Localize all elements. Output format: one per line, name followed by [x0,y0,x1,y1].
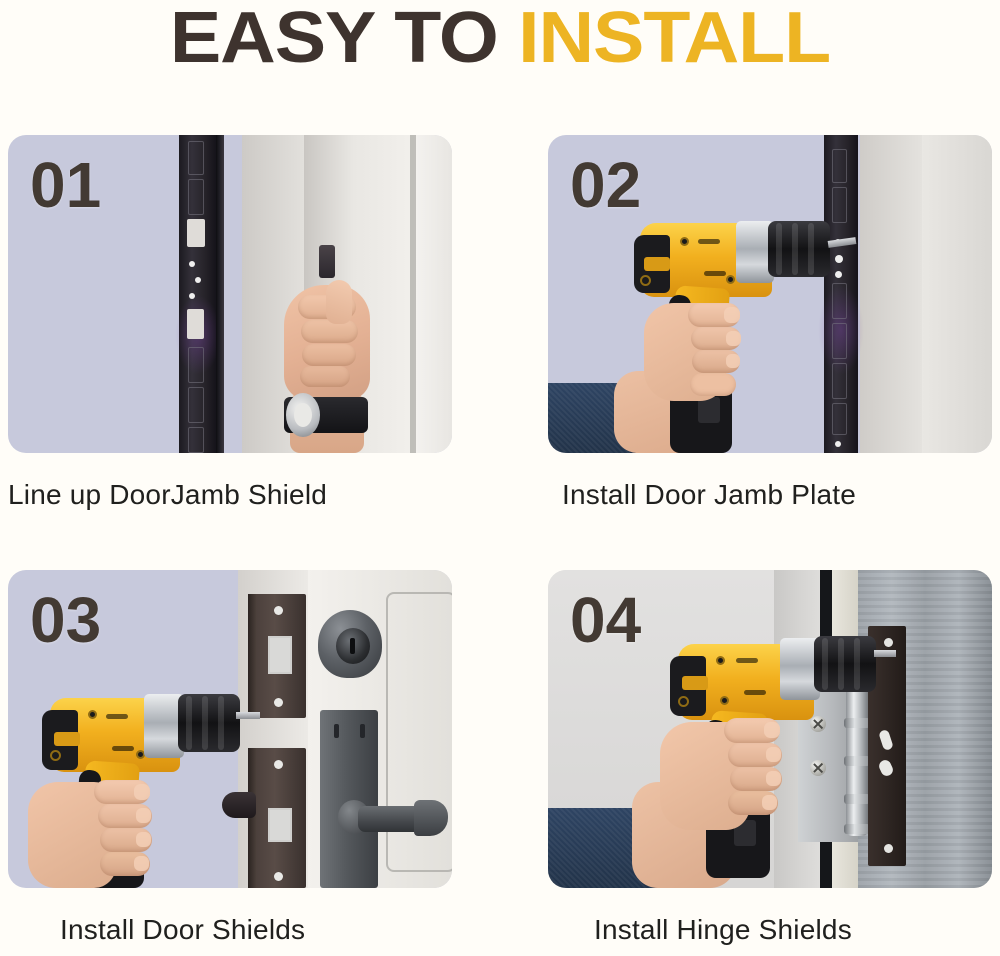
door-jamb-face [860,135,922,453]
step-card-01: 01 [8,135,452,453]
door-shield-lower [254,748,306,888]
step-caption-04: Install Hinge Shields [594,914,852,946]
step-card-02: 02 [548,135,992,453]
steps-grid: 01 [8,135,992,945]
held-shield-piece [319,245,335,278]
step-number-04: 04 [570,588,641,652]
hinge-screw-2 [810,716,826,732]
deadbolt-lock [318,610,382,678]
step-number-01: 01 [30,153,101,217]
hinge-screw-3 [810,760,826,776]
latch-bolt-lower [222,792,256,818]
page-title: EASY TO INSTALL [0,2,1000,74]
door-shield-lower-edge [248,748,256,888]
step-card-03: 03 [8,570,452,888]
handle-escutcheon [320,710,378,888]
door-jamb-shield-plate [824,135,858,453]
door-shield-upper-edge [248,594,256,718]
step-card-04: 04 [548,570,992,888]
title-part-dark: EASY TO [170,0,518,78]
drill-bit [874,650,896,657]
step-caption-03: Install Door Shields [60,914,305,946]
step-number-02: 02 [570,153,641,217]
step-caption-01: Line up DoorJamb Shield [8,479,327,511]
door-edge-line [410,135,416,453]
door-edge-highlight [414,135,452,453]
door-shield-upper [254,594,306,718]
door-face [922,135,992,453]
jamb-plate-edge [216,135,224,453]
step-number-03: 03 [30,588,101,652]
door-jamb-shield-plate [179,135,216,453]
title-part-gold: INSTALL [518,0,830,78]
infographic-page: EASY TO INSTALL [0,0,1000,956]
step-caption-02: Install Door Jamb Plate [562,479,856,511]
drill-bit [236,712,260,719]
